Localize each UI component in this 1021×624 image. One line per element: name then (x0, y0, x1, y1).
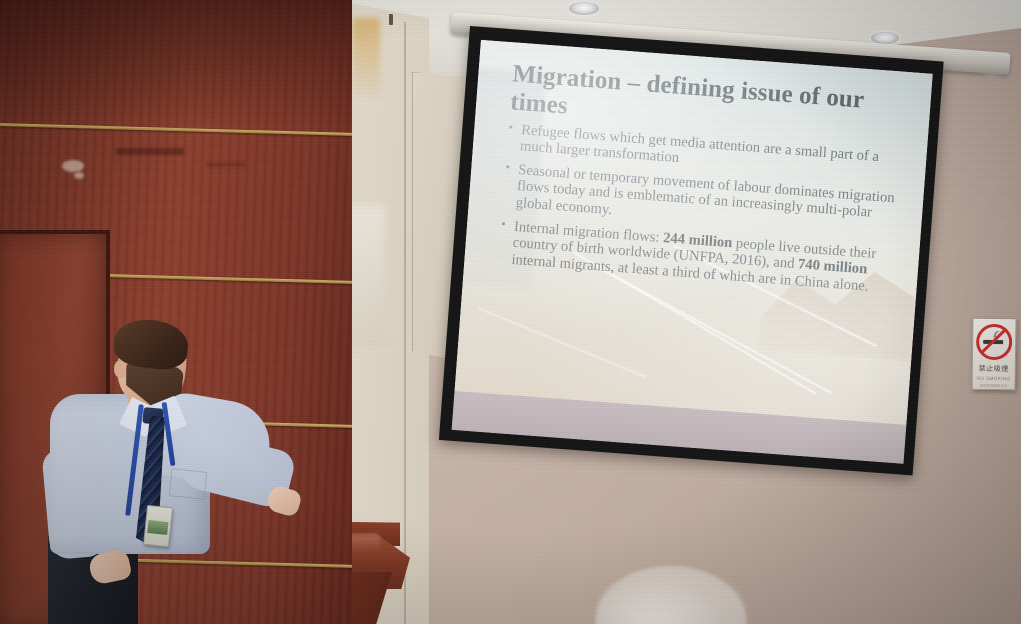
wall-mark (206, 162, 246, 167)
slide-text-block: Migration – defining issue of our times … (497, 60, 917, 305)
wall-stain (352, 18, 380, 96)
wall-edge (404, 22, 406, 624)
sign-english-text: NO SMOKING (977, 376, 1011, 381)
slide-bullet-list: Refugee flows which get media attention … (498, 121, 913, 298)
presentation-slide: Migration – defining issue of our times … (455, 40, 933, 425)
projection-screen-surface: Migration – defining issue of our times … (452, 40, 933, 464)
presenter-shirt-pocket (169, 468, 208, 500)
no-smoking-sign: 禁止吸煙 NO SMOKING 請勿吸煙謝謝合作 (971, 318, 1016, 391)
presenter-name-badge (143, 505, 173, 547)
presenter (40, 320, 320, 624)
projection-screen-frame: Migration – defining issue of our times … (439, 26, 944, 475)
sign-chinese-text: 禁止吸煙 (979, 364, 1009, 374)
wall-scuff (74, 172, 84, 179)
no-smoking-icon (976, 324, 1012, 360)
wall-top-shadow (0, 0, 352, 130)
ceiling-hook-icon (389, 14, 393, 25)
sign-subtitle-text: 請勿吸煙謝謝合作 (980, 383, 1007, 388)
presentation-photo-scene: Migration – defining issue of our times … (0, 0, 1021, 624)
ceiling-downlight-icon (569, 2, 599, 15)
wall-scuff (62, 160, 84, 172)
slide-photo-rail (478, 308, 646, 379)
wall-mark (116, 148, 184, 155)
